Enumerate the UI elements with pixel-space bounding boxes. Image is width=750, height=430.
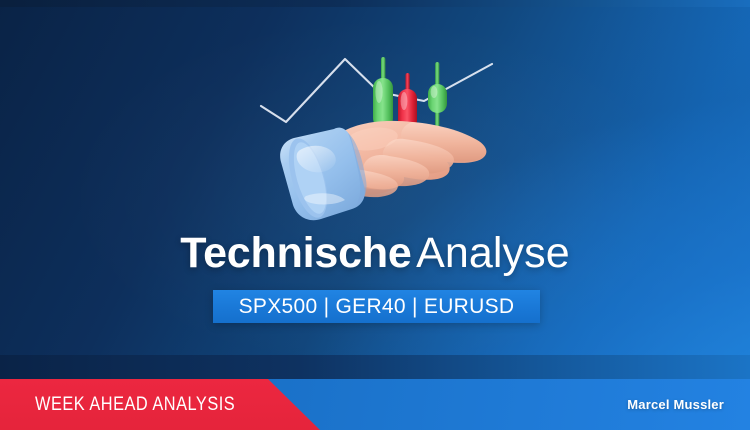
author-name: Marcel Mussler [627, 379, 724, 430]
title-light: Analyse [416, 229, 570, 277]
title-bold: Technische [180, 229, 411, 277]
footer-bar: WEEK AHEAD ANALYSIS Marcel Mussler [0, 379, 750, 430]
symbols-badge-label: SPX500 | GER40 | EURUSD [239, 295, 515, 319]
week-ahead-analysis-banner: Technische Analyse SPX500 | GER40 | EURU… [0, 0, 750, 430]
footer-category-label: WEEK AHEAD ANALYSIS [35, 379, 235, 430]
footer-dark-band [0, 355, 750, 379]
page-title: Technische Analyse [0, 232, 750, 275]
symbols-badge: SPX500 | GER40 | EURUSD [213, 290, 540, 323]
shirt-cuff-icon [280, 128, 366, 222]
